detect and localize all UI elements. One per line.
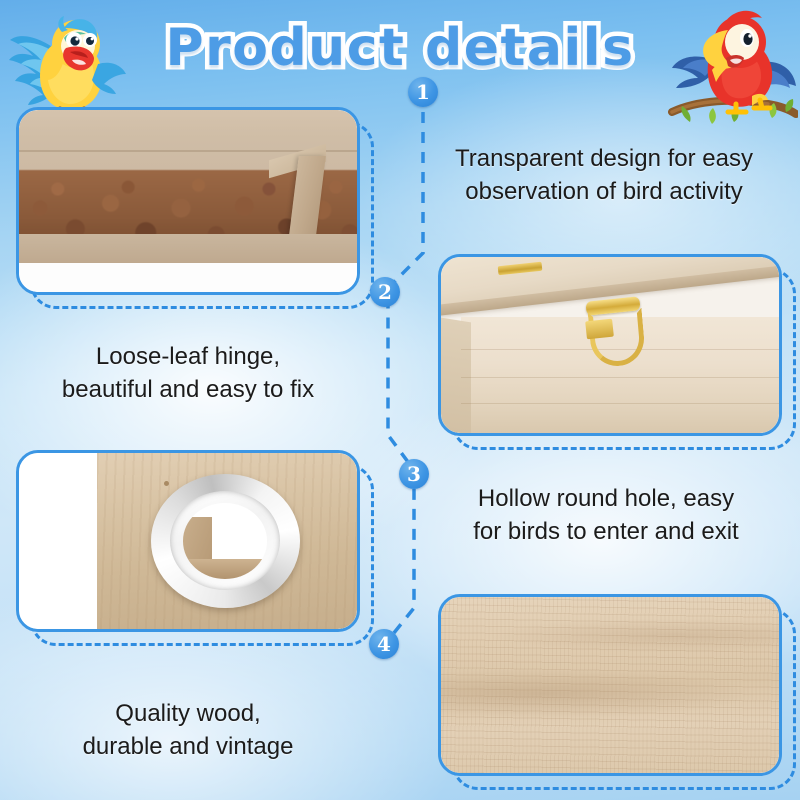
feature-image-card-1[interactable] <box>16 107 360 295</box>
card-frame <box>16 107 360 295</box>
feature-caption-3: Hollow round hole, easy for birds to ent… <box>428 482 784 548</box>
feature-image-card-4[interactable] <box>438 594 782 776</box>
feature-caption-1: Transparent design for easy observation … <box>428 142 780 208</box>
nest-box-with-coco-fiber-bedding-photo <box>19 110 357 292</box>
wooden-box-brass-latch-photo <box>441 257 779 433</box>
feature-marker-3[interactable]: 3 <box>399 459 429 489</box>
feature-marker-2-number: 2 <box>378 280 392 304</box>
card-frame <box>16 450 360 632</box>
product-details-infographic: Product details <box>0 0 800 800</box>
feature-marker-4[interactable]: 4 <box>369 629 399 659</box>
card-frame <box>438 254 782 436</box>
feature-marker-4-number: 4 <box>377 632 391 656</box>
round-entrance-hole-photo <box>19 453 357 629</box>
feature-caption-4: Quality wood, durable and vintage <box>18 697 358 763</box>
plain-wood-grain-photo <box>441 597 779 773</box>
feature-marker-3-number: 3 <box>407 462 421 486</box>
feature-image-card-2[interactable] <box>438 254 782 436</box>
feature-marker-1-number: 1 <box>416 80 430 104</box>
card-frame <box>438 594 782 776</box>
feature-marker-1[interactable]: 1 <box>408 77 438 107</box>
feature-marker-2[interactable]: 2 <box>370 277 400 307</box>
feature-image-card-3[interactable] <box>16 450 360 632</box>
feature-caption-2: Loose-leaf hinge, beautiful and easy to … <box>18 340 358 406</box>
